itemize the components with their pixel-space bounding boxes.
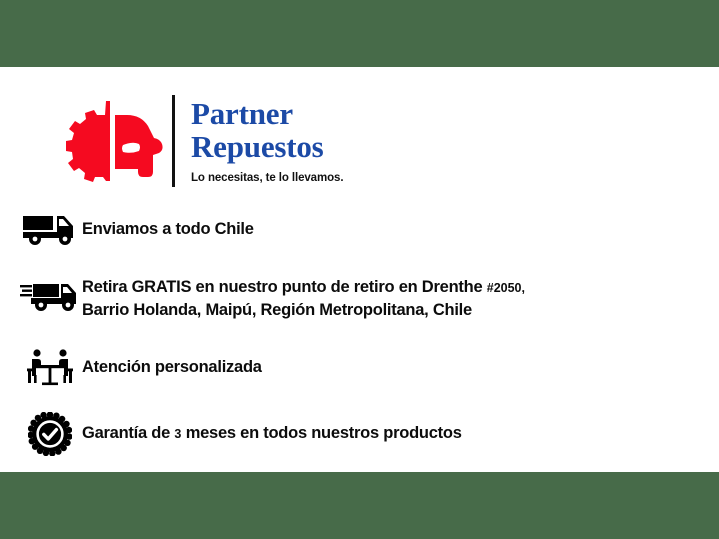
gear-car-split-icon <box>62 95 164 187</box>
feature-text-support: Atención personalizada <box>82 346 708 378</box>
feature-text-shipping: Enviamos a todo Chile <box>82 208 708 240</box>
warranty-suffix: meses en todos nuestros productos <box>186 424 462 442</box>
feature-list: Enviamos a todo Chile Ret <box>18 208 708 456</box>
warranty-months: 3 <box>174 427 181 441</box>
brand-text: Partner Repuestos Lo necesitas, te lo ll… <box>191 97 343 185</box>
brand-logo: Partner Repuestos Lo necesitas, te lo ll… <box>62 92 343 190</box>
pickup-line-2: Barrio Holanda, Maipú, Región Metropolit… <box>82 301 472 319</box>
brand-tagline: Lo necesitas, te lo llevamos. <box>191 171 343 185</box>
feature-row-warranty: Garantía de 3 meses en todos nuestros pr… <box>18 412 708 456</box>
people-at-table-icon <box>18 346 82 390</box>
check-seal-badge-icon <box>18 412 82 456</box>
feature-row-pickup: Retira GRATIS en nuestro punto de retiro… <box>18 274 708 324</box>
feature-text-warranty: Garantía de 3 meses en todos nuestros pr… <box>82 412 708 445</box>
promo-banner: Partner Repuestos Lo necesitas, te lo ll… <box>0 0 719 539</box>
pickup-street-number: #2050, <box>487 281 525 295</box>
brand-line-2: Repuestos <box>191 130 343 163</box>
feature-text-pickup: Retira GRATIS en nuestro punto de retiro… <box>82 274 708 321</box>
bottom-green-band <box>0 472 719 539</box>
top-green-band <box>0 0 719 67</box>
warranty-prefix: Garantía de <box>82 424 170 442</box>
feature-row-support: Atención personalizada <box>18 346 708 390</box>
logo-divider <box>172 95 175 187</box>
feature-row-shipping: Enviamos a todo Chile <box>18 208 708 252</box>
fast-delivery-truck-icon <box>18 274 82 324</box>
delivery-truck-icon <box>18 208 82 252</box>
pickup-line-1: Retira GRATIS en nuestro punto de retiro… <box>82 278 482 296</box>
brand-line-1: Partner <box>191 97 343 130</box>
